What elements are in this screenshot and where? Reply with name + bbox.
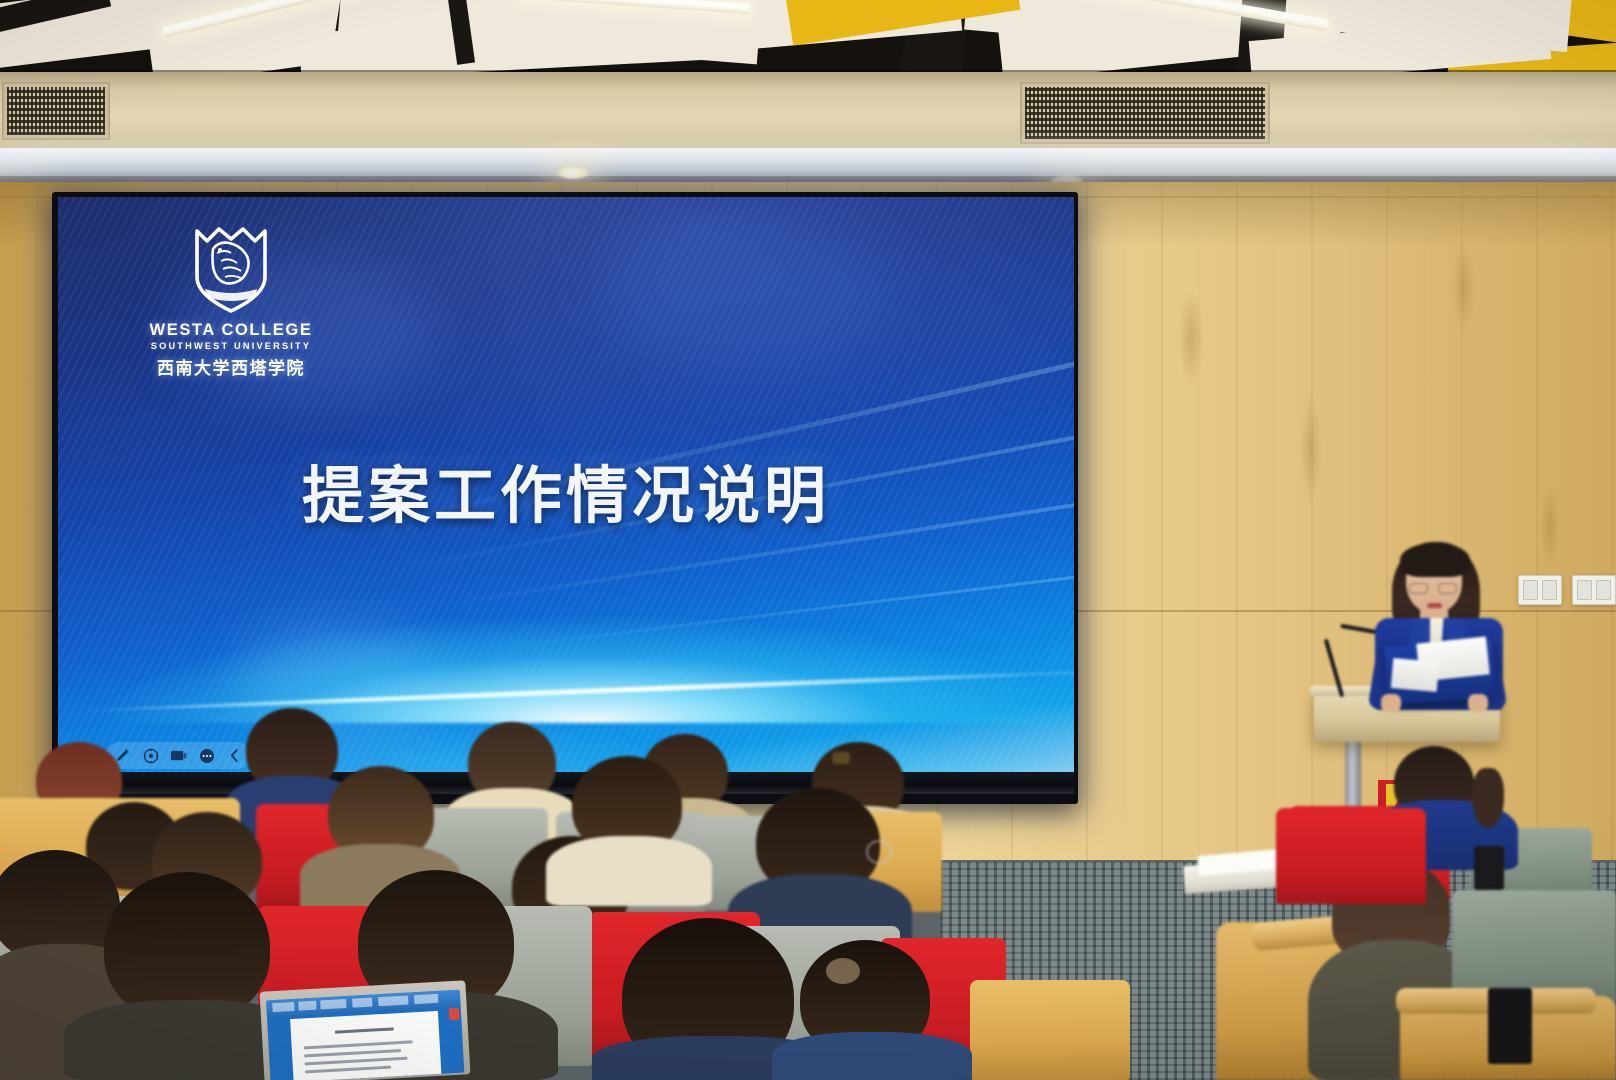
wood-knot bbox=[1300, 394, 1322, 504]
light-switch[interactable] bbox=[1596, 580, 1611, 600]
document-text-line bbox=[305, 1066, 391, 1074]
laptop-screen[interactable] bbox=[266, 990, 464, 1080]
speaker-hand bbox=[1381, 694, 1401, 712]
seat-red[interactable] bbox=[1276, 808, 1426, 904]
previous-slide-icon[interactable] bbox=[226, 747, 243, 764]
slide-view-icon[interactable] bbox=[170, 747, 187, 764]
laptop-lid bbox=[260, 980, 471, 1080]
document-text-line bbox=[305, 1057, 408, 1066]
light-switch[interactable] bbox=[1577, 580, 1592, 600]
attendee-shoulders bbox=[772, 1032, 972, 1080]
device-on-seat bbox=[1488, 988, 1532, 1064]
document-text-line bbox=[304, 1040, 413, 1049]
wood-knot bbox=[1540, 482, 1560, 570]
document-heading bbox=[335, 1027, 394, 1033]
ceiling-structure bbox=[0, 0, 1616, 78]
toolbar-button[interactable] bbox=[352, 998, 372, 1008]
toolbar-button[interactable] bbox=[272, 1002, 294, 1012]
ceiling-soffit bbox=[0, 72, 1616, 154]
shield-crest-tiger-icon bbox=[189, 219, 273, 315]
eyeglasses-icon bbox=[866, 840, 892, 864]
toolbar-button[interactable] bbox=[378, 996, 408, 1007]
light-switch[interactable] bbox=[1523, 580, 1538, 600]
toolbar-button[interactable] bbox=[414, 994, 438, 1004]
wood-knot bbox=[1178, 290, 1204, 386]
attendee-laptop[interactable] bbox=[260, 980, 471, 1080]
presentation-screen[interactable]: WESTA COLLEGE SOUTHWEST UNIVERSITY 西南大学西… bbox=[58, 197, 1074, 789]
speaker-hand bbox=[1468, 694, 1488, 712]
logo-university-name: SOUTHWEST UNIVERSITY bbox=[136, 341, 326, 351]
wall-control-panel-left[interactable] bbox=[1518, 575, 1562, 605]
wall-control-panel-right[interactable] bbox=[1572, 575, 1616, 605]
toolbar-button[interactable] bbox=[298, 1001, 316, 1011]
app-badge bbox=[449, 1008, 460, 1021]
laser-pointer-icon[interactable] bbox=[142, 747, 159, 764]
lecture-hall-photo: WESTA COLLEGE SOUTHWEST UNIVERSITY 西南大学西… bbox=[0, 0, 1616, 1080]
air-vent-right bbox=[1020, 82, 1270, 144]
screen-lower-bezel bbox=[58, 772, 1074, 794]
wood-knot bbox=[1452, 242, 1476, 332]
air-vent-left bbox=[2, 82, 110, 140]
logo-college-name: WESTA COLLEGE bbox=[136, 321, 326, 340]
document-page[interactable] bbox=[290, 1011, 441, 1080]
presenter-toolbar[interactable] bbox=[106, 742, 251, 769]
vent-grille bbox=[1025, 87, 1265, 139]
folder-papers bbox=[1391, 658, 1439, 692]
attendee-shoulders bbox=[546, 836, 712, 906]
attendee-ear bbox=[826, 958, 860, 984]
seat-wood-back[interactable] bbox=[970, 980, 1130, 1080]
more-options-icon[interactable] bbox=[198, 747, 215, 764]
device-on-seat bbox=[1474, 846, 1504, 890]
screen-glow bbox=[598, 217, 898, 377]
college-logo: WESTA COLLEGE SOUTHWEST UNIVERSITY 西南大学西… bbox=[136, 219, 326, 379]
toolbar-button[interactable] bbox=[320, 999, 346, 1009]
attendee-ponytail bbox=[1472, 768, 1504, 828]
slide-title: 提案工作情况说明 bbox=[58, 445, 1074, 535]
logo-chinese-name: 西南大学西塔学院 bbox=[136, 354, 326, 379]
speaker-hair-front bbox=[1400, 543, 1470, 577]
document-text-line bbox=[304, 1049, 401, 1057]
hair-clip bbox=[832, 752, 850, 764]
vent-grille bbox=[7, 87, 105, 135]
eyeglasses-icon bbox=[1409, 583, 1457, 594]
recessed-downlight bbox=[556, 166, 590, 180]
light-switch[interactable] bbox=[1542, 580, 1557, 600]
